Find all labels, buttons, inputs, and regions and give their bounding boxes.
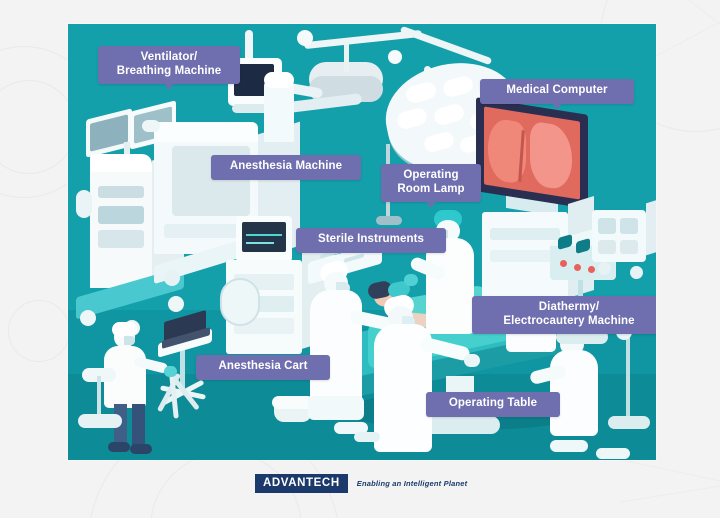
- anesthesia-machine-caster: [164, 270, 180, 286]
- supply-cart-caster: [598, 262, 611, 275]
- clinician-left-face-shadow: [124, 336, 135, 345]
- surgeon-c-glove: [404, 274, 418, 286]
- infographic-root: Ventilator/ Breathing Machine Anesthesia…: [0, 0, 720, 518]
- ventilator-panel-slot: [98, 186, 144, 198]
- supply-cart-window: [620, 218, 638, 234]
- medical-cabinet-shelf: [490, 228, 560, 240]
- iv-pole-base: [608, 416, 650, 429]
- stool-base: [78, 414, 122, 428]
- surgeon-b-glove: [464, 354, 480, 367]
- diathermy-knob: [574, 264, 581, 271]
- or-lamp-joint: [388, 50, 402, 64]
- surgeon-a-gown-hem: [308, 396, 364, 420]
- clinician-left-glove: [164, 366, 177, 377]
- ventilator-panel-slot: [98, 230, 144, 248]
- anesthesia-gas-column: [264, 80, 294, 142]
- or-lamp-pole-base: [376, 216, 402, 225]
- label-ventilator[interactable]: Ventilator/ Breathing Machine: [98, 46, 240, 84]
- label-anesthesia-machine[interactable]: Anesthesia Machine: [211, 155, 361, 180]
- operating-table-base: [420, 416, 500, 434]
- anesthesia-cart-monitor-waveform: [246, 242, 274, 244]
- clinician-left-cap: [112, 322, 137, 337]
- anesthesia-cart-monitor-waveform: [246, 234, 282, 236]
- surgeon-a-gown: [310, 290, 362, 412]
- brand-logo: ADVANTECH Enabling an Intelligent Planet: [255, 474, 467, 493]
- diathermy-knob: [560, 260, 567, 267]
- clinician-left-leg: [132, 404, 145, 448]
- supply-cart-side: [646, 197, 656, 256]
- label-anesthesia-cart[interactable]: Anesthesia Cart: [196, 355, 330, 380]
- or-lamp-arm: [400, 26, 493, 65]
- anesthesia-cart-bellows: [220, 278, 260, 326]
- supply-cart-caster: [630, 266, 643, 279]
- stool-pole: [97, 376, 101, 418]
- ventilator-handle: [76, 190, 92, 218]
- anesthesia-cart-monitor-screen: [242, 222, 286, 252]
- ventilator-panel-slot: [98, 206, 144, 224]
- floor-drape: [354, 432, 380, 442]
- right-floor-drape: [596, 448, 630, 459]
- footer: ADVANTECH Enabling an Intelligent Planet: [0, 466, 720, 518]
- label-medical-computer[interactable]: Medical Computer: [480, 79, 634, 104]
- ventilator-cabinet-top: [90, 154, 152, 172]
- ventilator-caster: [168, 296, 184, 312]
- anesthesia-gas-cap: [264, 72, 294, 88]
- ventilator-cabinet-front: [90, 166, 152, 288]
- label-operating-table[interactable]: Operating Table: [426, 392, 560, 417]
- or-lamp-joint: [297, 30, 313, 46]
- anesthesia-machine-handle: [142, 120, 160, 132]
- advantech-wordmark: ADVANTECH: [255, 474, 348, 493]
- operating-room-illustration: Ventilator/ Breathing Machine Anesthesia…: [68, 24, 656, 460]
- background-watermark-circle: [8, 300, 70, 362]
- supply-cart-window: [620, 240, 638, 254]
- ventilator-caster: [80, 310, 96, 326]
- floor-drape: [550, 440, 588, 452]
- clinician-left-shoe: [108, 442, 130, 452]
- supply-cart-window: [598, 218, 616, 234]
- diathermy-knob: [588, 266, 595, 273]
- brand-tagline: Enabling an Intelligent Planet: [357, 479, 468, 488]
- label-diathermy[interactable]: Diathermy/ Electrocautery Machine: [472, 296, 656, 334]
- clinician-left-shoe: [130, 444, 152, 454]
- label-sterile-instruments[interactable]: Sterile Instruments: [296, 228, 446, 253]
- supply-cart-window: [598, 240, 616, 254]
- label-operating-room-lamp[interactable]: Operating Room Lamp: [381, 164, 481, 202]
